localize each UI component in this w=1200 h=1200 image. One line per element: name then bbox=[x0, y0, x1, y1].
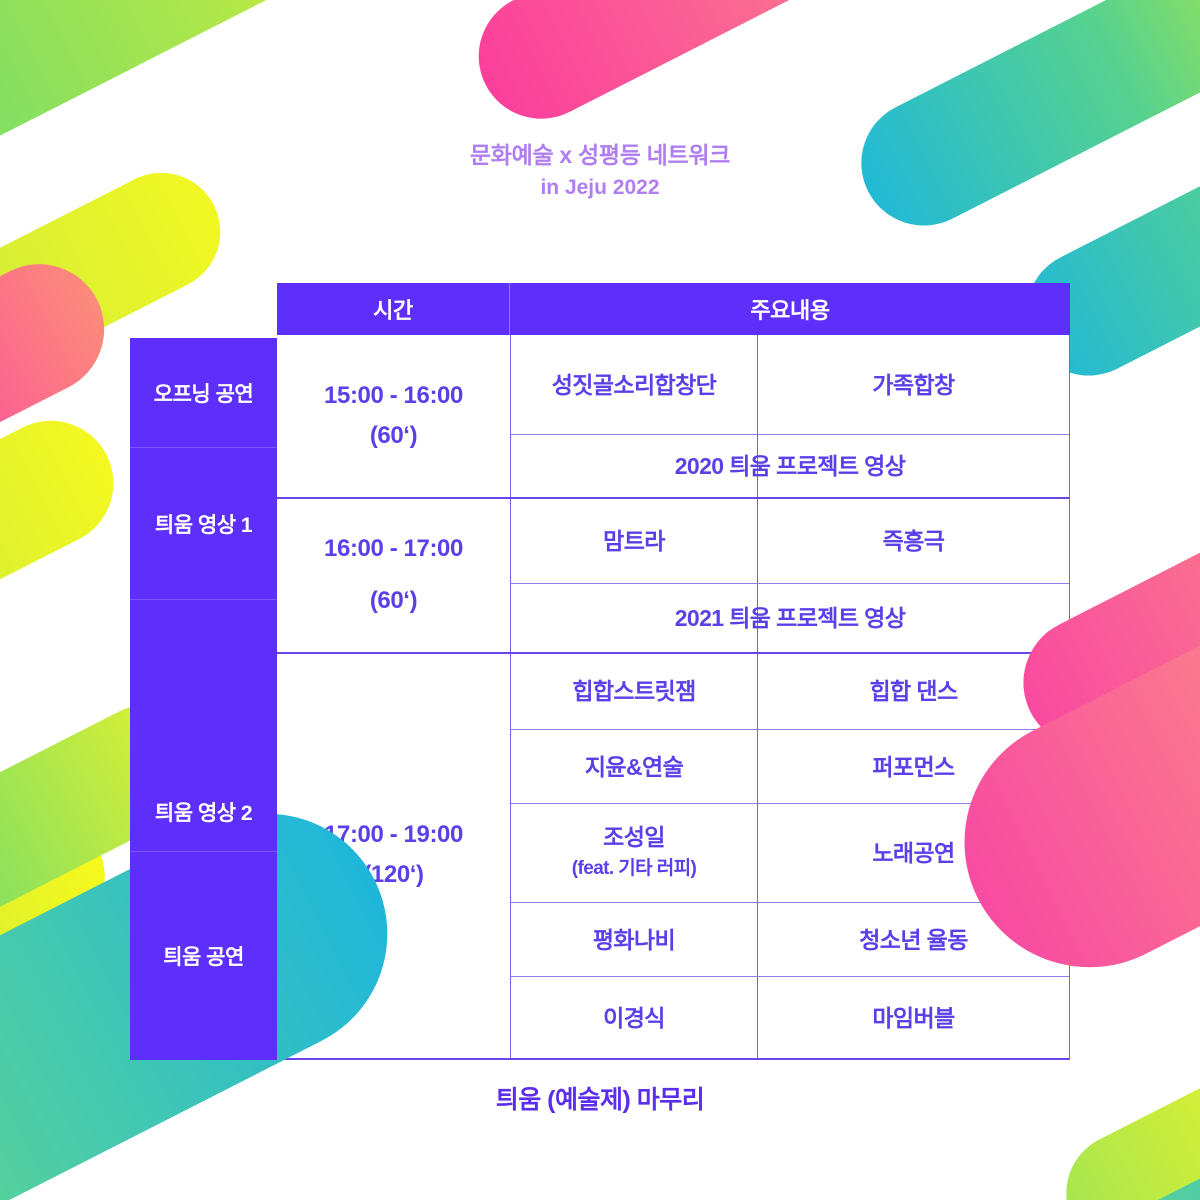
content-cell-7-left-sub: (feat. 기타 러피) bbox=[572, 853, 696, 885]
sidebar-item-video-2-label: 틔움 영상 2 bbox=[130, 600, 277, 852]
time-slot-2-duration: (60‘) bbox=[370, 581, 417, 621]
content-cell-9-left: 이경식 bbox=[511, 977, 757, 1058]
time-slot-1-duration: (60‘) bbox=[370, 416, 417, 456]
column-header-content: 주요내용 bbox=[510, 283, 1070, 335]
content-cell-9-right: 마임버블 bbox=[758, 977, 1069, 1058]
time-slot-2-range: 16:00 - 17:00 bbox=[324, 529, 463, 569]
content-cell-6-right: 퍼포먼스 bbox=[758, 730, 1069, 803]
time-slot-3-duration: (120‘) bbox=[363, 855, 423, 895]
time-slot-3-range: 17:00 - 19:00 bbox=[324, 815, 463, 855]
sidebar-item-video-1-label: 틔움 영상 1 bbox=[130, 448, 277, 600]
content-cell-8-right: 청소년 율동 bbox=[758, 903, 1069, 976]
time-slot-1: 15:00 - 16:00 (60‘) bbox=[277, 335, 510, 497]
content-cell-3-right: 즉흥극 bbox=[758, 498, 1069, 583]
grid-vline-right bbox=[1069, 335, 1070, 1060]
footer-note: 틔움 (예술제) 마무리 bbox=[0, 1080, 1200, 1116]
content-cell-6-left: 지윤&연술 bbox=[511, 730, 757, 803]
time-slot-3: 17:00 - 19:00 (120‘) bbox=[277, 652, 510, 1058]
content-cell-7-right: 노래공연 bbox=[758, 804, 1069, 902]
category-sidebar-top: 오프닝 공연 틔움 영상 1 틔움 영상 2 틔움 공연 bbox=[130, 338, 277, 1060]
content-cell-5-left: 힙합스트릿잼 bbox=[511, 653, 757, 729]
content-cell-7-left: 조성일 (feat. 기타 러피) bbox=[511, 804, 757, 902]
time-slot-2: 16:00 - 17:00 (60‘) bbox=[277, 497, 510, 652]
content-cell-5-right: 힙합 댄스 bbox=[758, 653, 1069, 729]
grid-hline-bottom bbox=[277, 1058, 1069, 1060]
content-cell-7-left-main: 조성일 bbox=[603, 821, 665, 853]
content-cell-1-right: 가족합창 bbox=[758, 335, 1069, 434]
content-cell-2-span: 2020 틔움 프로젝트 영상 bbox=[511, 435, 1069, 497]
table-header-row: 시간 주요내용 bbox=[277, 283, 1070, 335]
sidebar-item-performance-label: 틔움 공연 bbox=[130, 852, 277, 1060]
content-cell-1-left: 성짓골소리합창단 bbox=[511, 335, 757, 434]
content-cell-8-left: 평화나비 bbox=[511, 903, 757, 976]
content-cell-4-span: 2021 틔움 프로젝트 영상 bbox=[511, 584, 1069, 652]
column-header-time: 시간 bbox=[277, 283, 510, 335]
sidebar-item-opening-label: 오프닝 공연 bbox=[130, 338, 277, 448]
time-slot-1-range: 15:00 - 16:00 bbox=[324, 376, 463, 416]
poster-canvas: 문화예술 x 성평등 네트워크 in Jeju 2022 시간 주요내용 15:… bbox=[0, 0, 1200, 1200]
content-cell-3-left: 맘트라 bbox=[511, 498, 757, 583]
